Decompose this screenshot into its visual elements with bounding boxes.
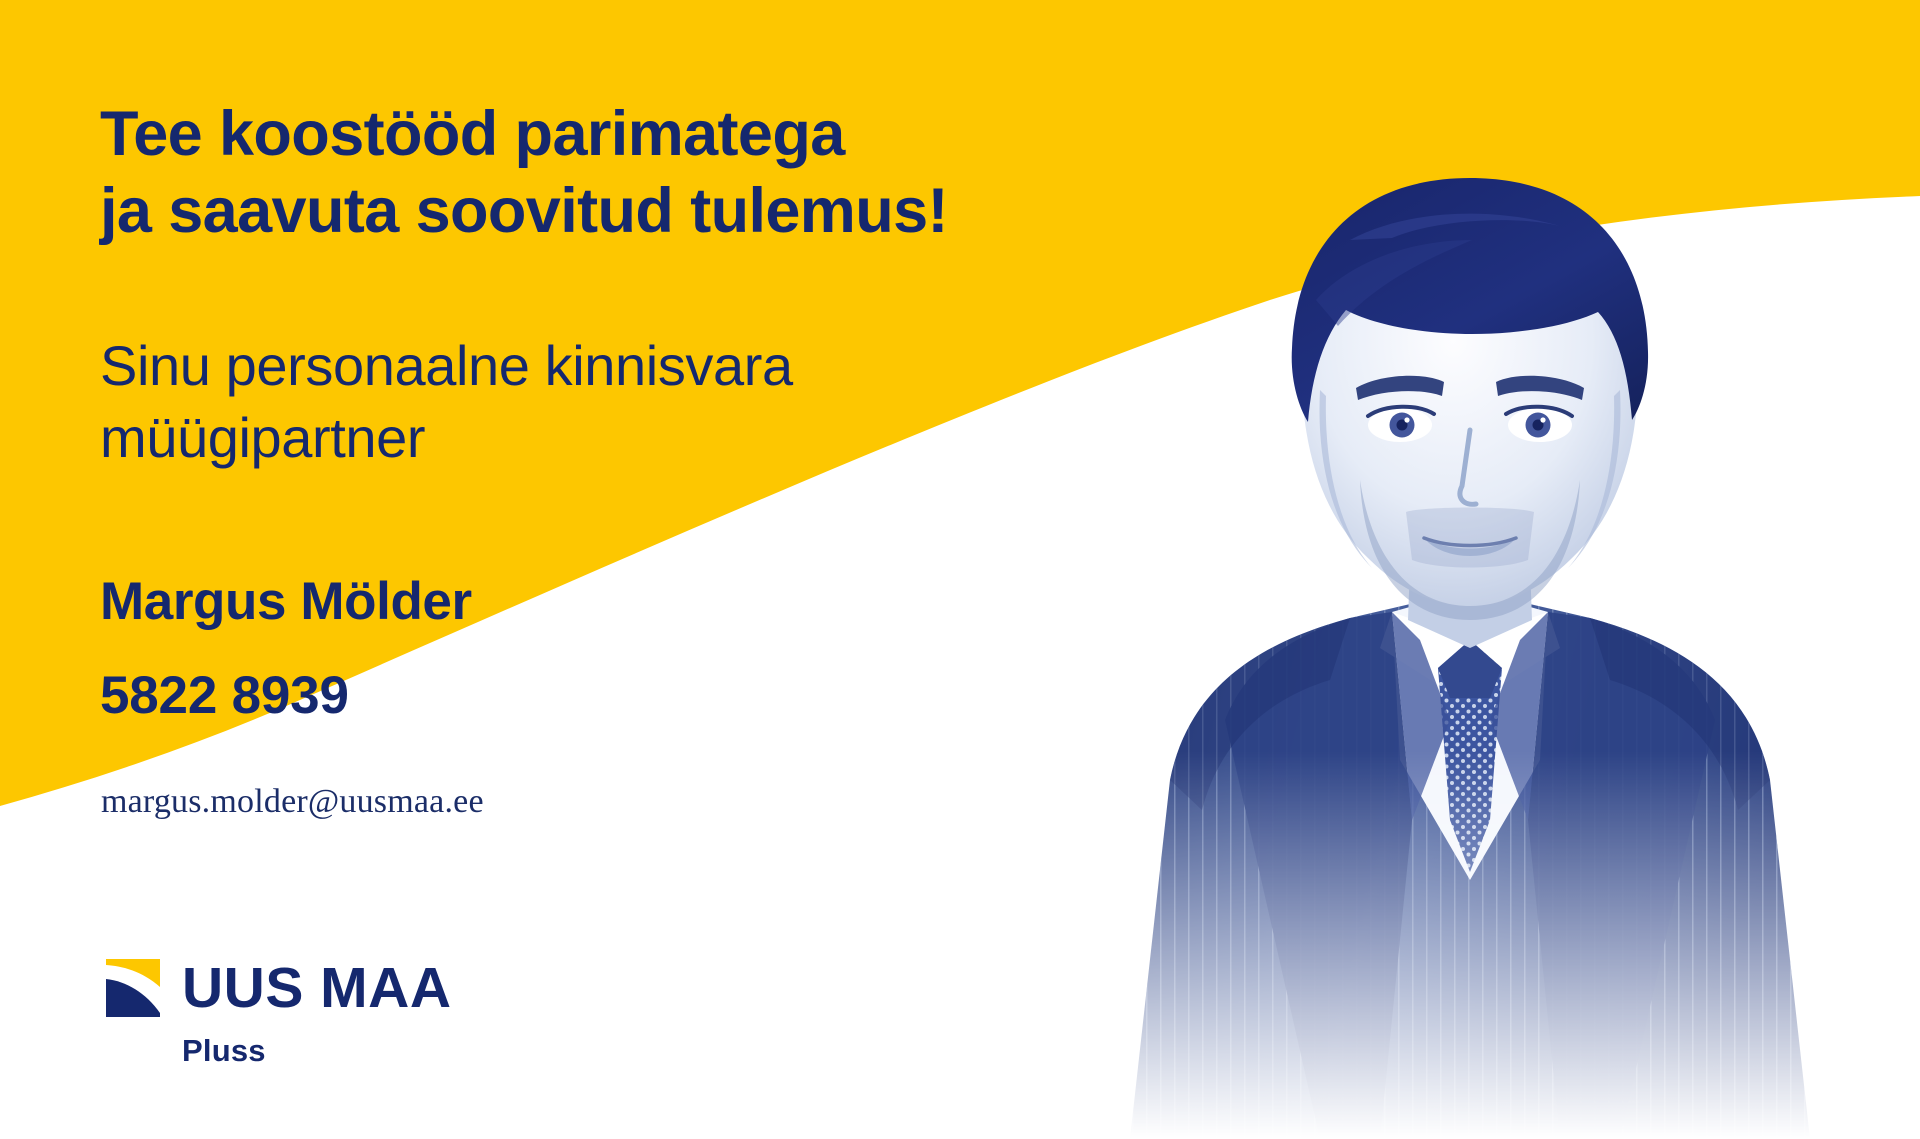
subheadline: Sinu personaalne kinnisvara müügipartner [100, 330, 1060, 473]
advertisement-banner: Tee koostööd parimatega ja saavuta soovi… [0, 0, 1920, 1139]
uus-maa-pluss-logo[interactable]: UUS MAA Pluss [100, 957, 620, 1087]
logo-sub-wordmark: Pluss [182, 1035, 266, 1066]
agent-email[interactable]: margus.molder@uusmaa.ee [101, 782, 484, 823]
headline: Tee koostööd parimatega ja saavuta soovi… [100, 96, 1110, 250]
logo-primary-row: UUS MAA [100, 957, 452, 1019]
agent-portrait-illustration [1020, 120, 1920, 1139]
copy-column: Tee koostööd parimatega ja saavuta soovi… [100, 0, 1100, 1139]
agent-portrait [1020, 120, 1920, 1139]
agent-name: Margus Mölder [100, 572, 472, 631]
uus-maa-flag-mark-icon [100, 957, 162, 1019]
logo-wordmark: UUS MAA [182, 960, 452, 1017]
agent-phone[interactable]: 5822 8939 [100, 666, 349, 725]
